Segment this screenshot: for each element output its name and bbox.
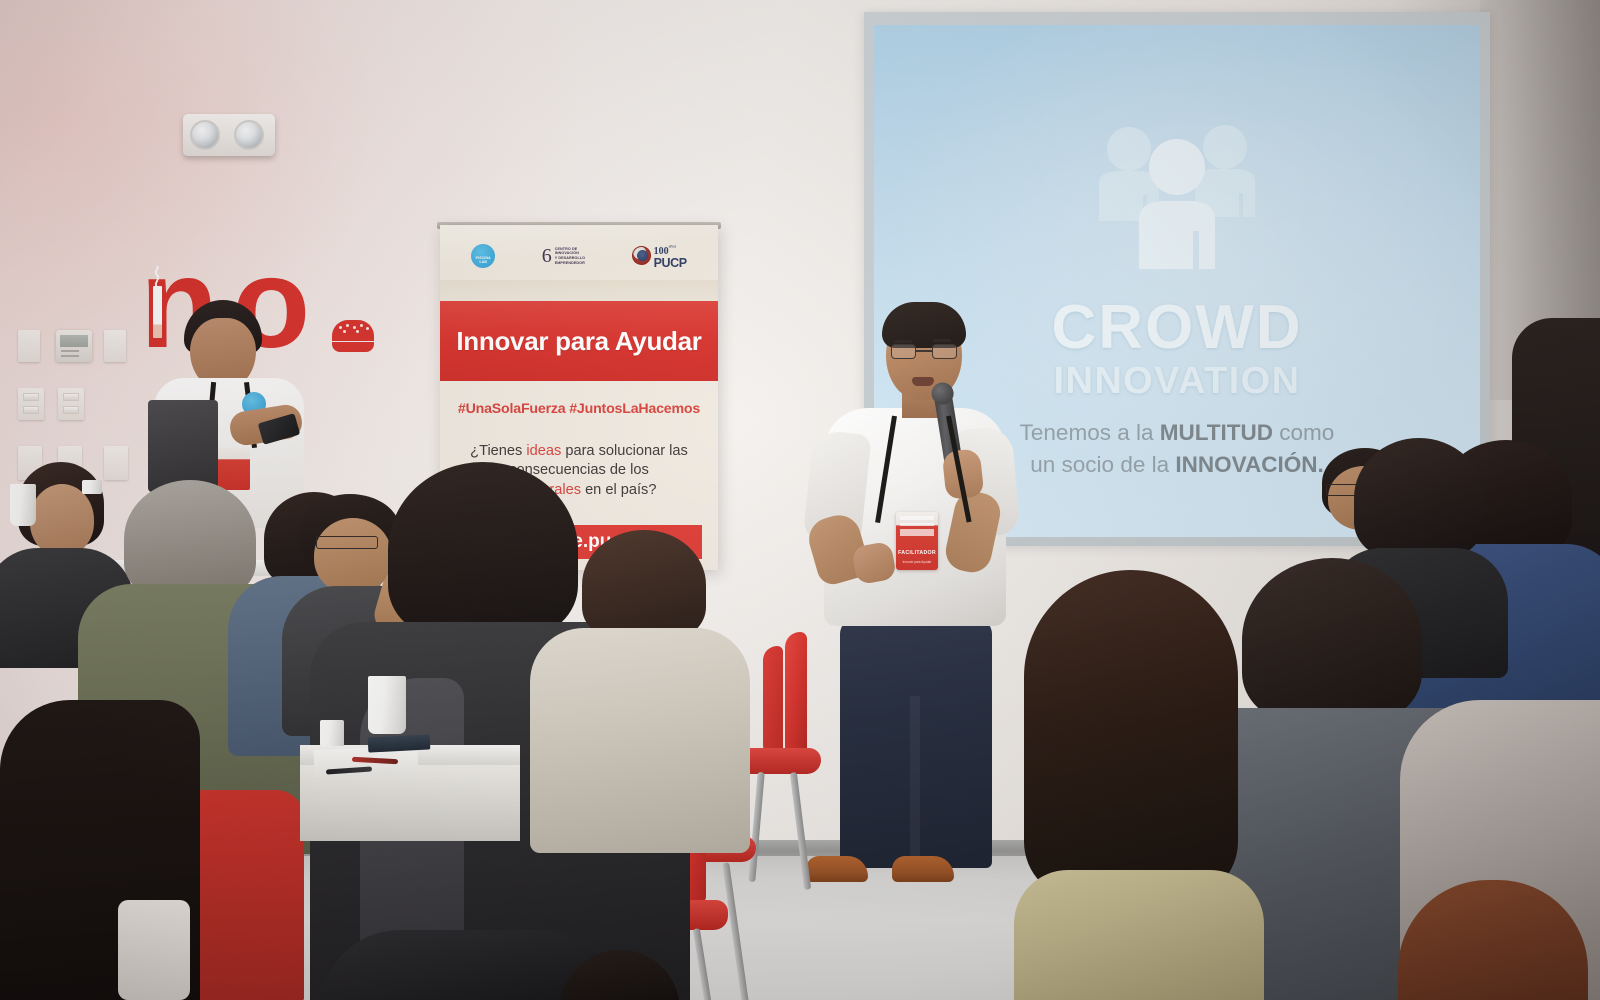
banner-logo-row: PISCINA LAB 6 CENTRO DE INNOVACIÓN Y DES… [440, 233, 718, 279]
thermostat-line-1 [61, 350, 79, 352]
light-switch-1[interactable] [18, 388, 44, 420]
burger-bun-top [332, 320, 374, 336]
speaker-eyebrow-left [894, 340, 912, 343]
speaker-mouth [912, 377, 934, 386]
cide-logo-text: CENTRO DE INNOVACIÓN Y DESARROLLO EMPREN… [555, 247, 585, 266]
banner-headline-band: Innovar para Ayudar [440, 301, 718, 381]
cide-line-4: EMPRENDEDOR [555, 261, 585, 265]
paper-cup-large [368, 676, 406, 734]
attendee-hair [582, 530, 706, 640]
smoke-icon [151, 266, 164, 288]
speaker-id-badge: FACILITADOR Innovar para Ayudar [896, 512, 938, 570]
chair-backrest [785, 632, 807, 756]
paper-cup-back-left [10, 484, 36, 526]
badge-role-label: FACILITADOR [896, 550, 938, 556]
tagline-l1a: Tenemos a la [1020, 420, 1160, 445]
attendee-grey-knit-sweater [530, 530, 760, 850]
piscina-lab-logo: PISCINA LAB [471, 244, 495, 268]
paper-cup-small [320, 720, 344, 746]
glasses-lens-right [932, 344, 957, 359]
attendee-sweater [530, 628, 750, 853]
light-switch-2[interactable] [58, 388, 84, 420]
tagline-innovacion: INNOVACIÓN. [1175, 452, 1323, 477]
switch-rocker[interactable] [23, 393, 39, 401]
photo-scene: n o PISCINA LAB [0, 0, 1600, 1000]
burger-icon [332, 320, 374, 352]
speaker-presenter: FACILITADOR Innovar para Ayudar [800, 300, 1030, 890]
piscina-logo-line2: LAB [479, 261, 487, 265]
banner-q-highlight-ideas: ideas [526, 443, 561, 459]
cide-swirl-icon: 6 [542, 246, 552, 266]
badge-strip-2 [900, 523, 934, 526]
attendee-jacket [1014, 870, 1264, 1000]
speaker-shoe-right [892, 856, 954, 882]
wall-plate-2[interactable] [104, 330, 126, 362]
attendee-head [30, 484, 94, 556]
burger-bun-bottom [332, 342, 374, 352]
glasses-bridge [916, 350, 932, 352]
tagline-l1c: como [1273, 420, 1334, 445]
attendee-hair [1354, 438, 1484, 558]
glasses-lens-left [891, 344, 916, 359]
speaker-shoe-left [806, 856, 868, 882]
banner-q-line1a: ¿Tienes [470, 443, 526, 459]
banner-headline: Innovar para Ayudar [456, 326, 701, 357]
attendee-hair [1024, 570, 1238, 900]
attendee-long-hair-right [1000, 570, 1270, 1000]
switch-rocker[interactable] [63, 406, 79, 414]
thermostat-line-2 [61, 355, 79, 357]
glasses-icon [890, 344, 960, 360]
emergency-lamp-left [190, 120, 220, 150]
computer-monitor [148, 400, 218, 492]
cide-line-3: Y DESARROLLO [555, 256, 585, 260]
attendee-white-sleeve [118, 900, 190, 1000]
switch-rocker[interactable] [63, 393, 79, 401]
chair-backrest-wing [763, 646, 783, 754]
switch-rocker[interactable] [23, 406, 39, 414]
pucp-wordmark: 100años PUCP [654, 243, 687, 268]
badge-strip-3 [900, 529, 934, 536]
badge-subtitle: Innovar para Ayudar [896, 560, 938, 564]
banner-divider [440, 280, 718, 302]
speaker-eyebrow-right [933, 339, 951, 342]
banner-hashtags: #UnaSolaFuerza #JuntosLaHacemos [440, 401, 718, 417]
pucp-crest-icon [632, 246, 651, 265]
emergency-lamp-right [234, 120, 264, 150]
group-of-people-icon [1089, 117, 1265, 269]
banner-q-line1b: para solucionar las [561, 443, 688, 459]
speaker-jeans [840, 618, 992, 868]
tagline-multitud: MULTITUD [1160, 420, 1273, 445]
burger-patty [332, 336, 374, 341]
emergency-light-icon [183, 114, 275, 156]
wall-thermostat[interactable] [56, 330, 92, 362]
cup-lid-back [82, 480, 102, 494]
tagline-l2a: un socio de la [1030, 452, 1175, 477]
cide-logo: 6 CENTRO DE INNOVACIÓN Y DESARROLLO EMPR… [542, 246, 585, 266]
cide-line-2: INNOVACIÓN [555, 251, 579, 255]
pucp-logo: 100años PUCP [632, 243, 687, 268]
pucp-anos: años [669, 245, 677, 249]
wall-plate-1[interactable] [18, 330, 40, 362]
badge-strip-1 [900, 516, 934, 520]
pucp-letters: PUCP [654, 258, 687, 269]
thermostat-display [60, 335, 88, 347]
